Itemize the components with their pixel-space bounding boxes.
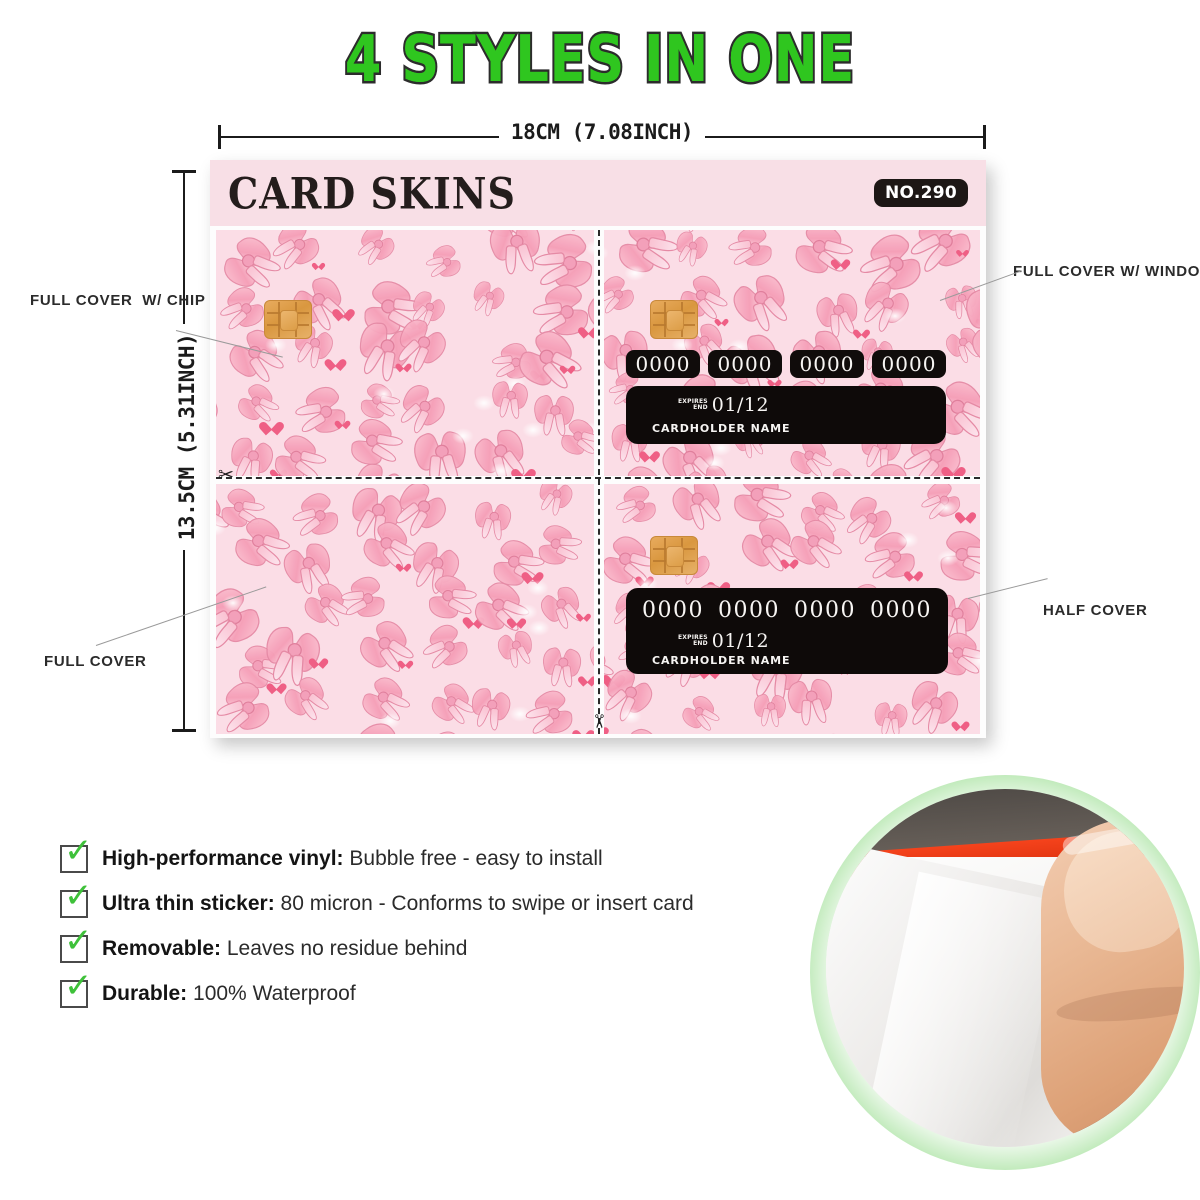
bow-motif <box>299 489 342 539</box>
card-number-group-3: 0000 <box>794 598 856 623</box>
sticker-full-cover-with-window[interactable]: 0000 0000 0000 0000 EXPIRES END 01/12 CA… <box>604 230 980 476</box>
card-details-panel: EXPIRES END 01/12 CARDHOLDER NAME <box>626 386 946 444</box>
checkbox-checked-icon: ✓ <box>60 980 88 1008</box>
height-dimension-label: 13.5CM (5.31INCH) <box>175 324 199 550</box>
emv-chip-icon <box>650 300 698 339</box>
heart-motif <box>314 260 322 268</box>
sparkle-highlight <box>373 386 395 402</box>
bow-motif <box>303 383 348 437</box>
heart-motif <box>717 316 726 324</box>
bow-motif <box>469 687 513 722</box>
sparkle-highlight <box>452 428 474 444</box>
card-number-group-3: 0000 <box>790 350 864 378</box>
width-dimension-line: 18CM (7.08INCH) <box>218 136 986 138</box>
heart-motif <box>516 464 532 476</box>
bow-motif <box>487 230 542 261</box>
emv-chip-icon <box>264 300 312 339</box>
feature-text: Removable: Leaves no residue behind <box>102 937 467 961</box>
bow-motif <box>728 270 790 325</box>
sparkle-highlight <box>624 265 646 281</box>
card-number-group-2: 0000 <box>718 598 780 623</box>
feature-rest: Bubble free - easy to install <box>344 847 603 870</box>
sheet-header: CARD SKINS NO.290 <box>210 160 986 226</box>
heart-motif <box>959 508 972 520</box>
card-number-group-2: 0000 <box>708 350 782 378</box>
heart-motif <box>578 610 587 619</box>
bow-motif <box>795 729 857 734</box>
expiry-block: EXPIRES END 01/12 <box>678 630 769 652</box>
bow-motif <box>673 230 710 261</box>
sparkle-highlight <box>897 532 919 548</box>
expires-label: EXPIRES END <box>678 635 708 648</box>
card-number-group-4: 0000 <box>872 350 946 378</box>
bow-motif <box>609 724 664 734</box>
bow-motif <box>533 687 576 734</box>
heart-motif <box>834 256 846 267</box>
feature-lead: Removable: <box>102 937 221 960</box>
height-dimension-cap-bottom <box>172 729 196 732</box>
card-number-group-1: 0000 <box>626 350 700 378</box>
bow-motif <box>753 694 787 718</box>
scissors-icon: ✂ <box>218 466 234 485</box>
feature-item: ✓ Removable: Leaves no residue behind <box>60 935 850 963</box>
bow-motif <box>542 648 583 677</box>
scissors-icon: ✂ <box>588 714 607 730</box>
bow-motif <box>610 461 666 476</box>
heart-motif <box>338 417 348 426</box>
bow-motif <box>668 484 724 524</box>
sticker-grid: 0000 0000 0000 0000 EXPIRES END 01/12 CA… <box>210 226 986 738</box>
feature-text: Ultra thin sticker: 80 micron - Conforms… <box>102 892 694 916</box>
sparkle-highlight <box>527 580 549 596</box>
emv-chip-icon <box>650 536 698 575</box>
heart-motif <box>398 560 408 569</box>
sparkle-highlight <box>620 708 642 724</box>
feature-rest: 100% Waterproof <box>187 982 355 1005</box>
bow-motif <box>979 724 980 734</box>
card-details-panel: 0000 0000 0000 0000 EXPIRES END 01/12 CA… <box>626 588 948 674</box>
bow-motif <box>398 380 449 429</box>
card-skin-sheet: CARD SKINS NO.290 <box>210 160 986 738</box>
sparkle-highlight <box>528 620 550 636</box>
feature-rest: Leaves no residue behind <box>221 937 467 960</box>
expiry-date: 01/12 <box>712 394 769 416</box>
feature-text: High-performance vinyl: Bubble free - ea… <box>102 847 603 871</box>
bow-motif <box>604 470 620 476</box>
expiry-date: 01/12 <box>712 630 769 652</box>
bow-motif <box>725 472 764 476</box>
sheet-title: CARD SKINS <box>228 168 516 218</box>
cardholder-name: CARDHOLDER NAME <box>652 422 790 435</box>
width-dimension-label-wrap: 18CM (7.08INCH) <box>218 120 986 144</box>
bow-motif <box>533 395 575 424</box>
feature-item: ✓ High-performance vinyl: Bubble free - … <box>60 845 850 873</box>
bow-motif <box>395 484 452 533</box>
bow-motif <box>349 574 386 621</box>
sparkle-highlight <box>884 308 906 324</box>
heart-motif <box>643 447 656 459</box>
expires-label: EXPIRES END <box>678 399 708 412</box>
heart-motif <box>400 658 410 667</box>
height-dimension-cap-top <box>172 170 196 173</box>
feature-list: ✓ High-performance vinyl: Bubble free - … <box>60 845 850 1025</box>
height-dimension-label-wrap: 13.5CM (5.31INCH) <box>175 307 199 567</box>
bow-motif <box>473 501 513 530</box>
heart-motif <box>955 718 966 728</box>
product-photo-inset <box>810 775 1200 1170</box>
sparkle-highlight <box>490 463 512 476</box>
feature-rest: 80 micron - Conforms to swipe or insert … <box>275 892 694 915</box>
card-number-group-4: 0000 <box>870 598 932 623</box>
bow-motif <box>791 230 845 279</box>
card-number-group-1: 0000 <box>642 598 704 623</box>
sparkle-highlight <box>703 455 725 471</box>
heart-motif <box>581 323 594 335</box>
bow-motif <box>427 727 470 734</box>
card-number-row: 0000 0000 0000 0000 <box>642 598 932 623</box>
bow-motif <box>271 430 319 476</box>
bow-motif <box>427 620 472 669</box>
callout-full-cover: FULL COVER <box>44 653 147 670</box>
bow-motif <box>280 672 328 719</box>
sparkle-highlight <box>604 245 609 261</box>
sparkle-highlight <box>473 395 495 411</box>
bow-motif <box>431 242 463 280</box>
heart-motif <box>563 363 573 372</box>
callout-half-cover: HALF COVER <box>1043 602 1148 619</box>
bow-motif <box>224 283 267 331</box>
feature-text: Durable: 100% Waterproof <box>102 982 356 1006</box>
bow-motif <box>621 484 658 525</box>
sparkle-highlight <box>265 337 287 353</box>
sticker-full-cover-with-chip[interactable] <box>216 230 594 476</box>
heart-motif <box>946 462 961 476</box>
feature-item: ✓ Ultra thin sticker: 80 micron - Confor… <box>60 890 850 918</box>
bow-motif <box>427 680 472 726</box>
bow-pattern-bl <box>216 484 594 734</box>
bow-motif <box>587 638 594 671</box>
bow-motif <box>736 230 774 269</box>
checkbox-checked-icon: ✓ <box>60 935 88 963</box>
bow-motif <box>495 629 534 660</box>
expiry-block: EXPIRES END 01/12 <box>678 394 769 416</box>
bow-motif <box>216 582 265 648</box>
sparkle-highlight <box>522 422 544 438</box>
bow-motif <box>965 287 980 328</box>
checkbox-checked-icon: ✓ <box>60 890 88 918</box>
feature-lead: Ultra thin sticker: <box>102 892 275 915</box>
vertical-cut-line <box>598 230 600 734</box>
bow-motif <box>786 679 834 714</box>
feature-lead: High-performance vinyl: <box>102 847 344 870</box>
heart-motif <box>581 673 593 684</box>
height-dimension-line: 13.5CM (5.31INCH) <box>183 170 185 732</box>
bow-motif <box>537 484 576 510</box>
cardholder-name: CARDHOLDER NAME <box>652 654 790 667</box>
sticker-half-cover[interactable]: 0000 0000 0000 0000 EXPIRES END 01/12 CA… <box>604 484 980 734</box>
heart-motif <box>907 567 919 578</box>
bow-motif <box>470 279 507 312</box>
bow-motif <box>537 522 573 568</box>
heart-motif <box>784 556 795 566</box>
bow-motif <box>814 292 861 328</box>
feature-lead: Durable: <box>102 982 187 1005</box>
sheet-number-badge: NO.290 <box>874 179 968 207</box>
photo-circle <box>826 789 1184 1147</box>
heart-motif <box>857 327 868 337</box>
heart-motif <box>526 568 540 581</box>
sticker-full-cover[interactable] <box>216 484 594 734</box>
sparkle-highlight <box>937 550 959 566</box>
callout-full-cover-with-chip: FULL COVER W/ CHIP <box>30 292 206 309</box>
bow-motif <box>587 230 594 237</box>
bow-pattern-tl <box>216 230 594 476</box>
bow-motif <box>358 230 399 263</box>
heart-motif <box>312 654 324 665</box>
sparkle-highlight <box>935 500 957 516</box>
feature-item: ✓ Durable: 100% Waterproof <box>60 980 850 1008</box>
bow-motif <box>228 435 277 474</box>
callout-full-cover-with-window: FULL COVER W/ WINDOW <box>1013 263 1200 280</box>
checkbox-checked-icon: ✓ <box>60 845 88 873</box>
heart-motif <box>336 305 350 318</box>
bow-motif <box>491 381 529 409</box>
bow-motif <box>873 703 908 728</box>
page-title: 4 STYLES IN ONE <box>108 28 1092 92</box>
heart-motif <box>959 247 967 254</box>
heart-motif <box>264 416 280 430</box>
heart-motif <box>329 355 343 368</box>
bow-motif <box>216 372 223 437</box>
sparkle-highlight <box>516 604 538 620</box>
bow-motif <box>679 693 718 732</box>
infographic-canvas: 4 STYLES IN ONE 4 STYLES IN ONE 18CM (7.… <box>0 0 1200 1200</box>
width-dimension-label: 18CM (7.08INCH) <box>499 120 705 144</box>
